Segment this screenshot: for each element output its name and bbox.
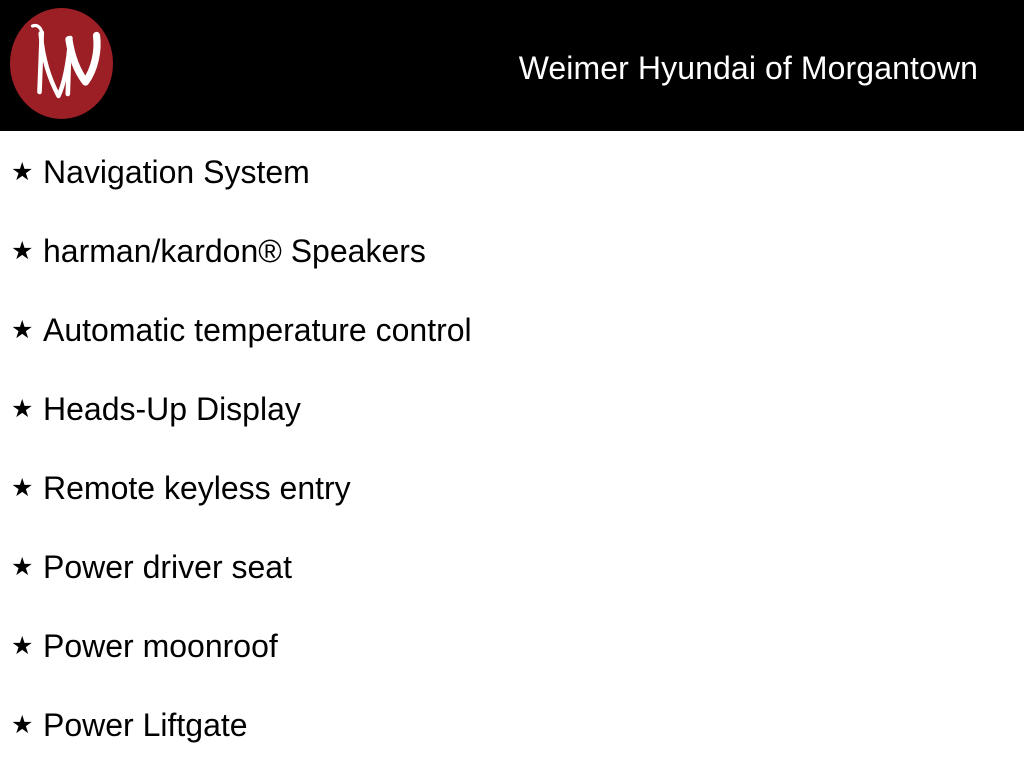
- list-item: ★ Automatic temperature control: [0, 309, 1024, 351]
- dealer-logo: [10, 8, 113, 119]
- list-item: ★ Heads-Up Display: [0, 388, 1024, 430]
- list-item: ★ Navigation System: [0, 151, 1024, 193]
- feature-label: Power moonroof: [43, 625, 278, 667]
- star-bullet-icon: ★: [11, 625, 33, 667]
- feature-label: Navigation System: [43, 151, 310, 193]
- page-title: Weimer Hyundai of Morgantown: [519, 49, 978, 87]
- list-item: ★ Power moonroof: [0, 625, 1024, 667]
- star-bullet-icon: ★: [11, 388, 33, 430]
- star-bullet-icon: ★: [11, 151, 33, 193]
- star-bullet-icon: ★: [11, 704, 33, 746]
- feature-label: Power driver seat: [43, 546, 292, 588]
- feature-list: ★ Navigation System ★ harman/kardon® Spe…: [0, 131, 1024, 768]
- list-item: ★ harman/kardon® Speakers: [0, 230, 1024, 272]
- feature-label: Power Liftgate: [43, 704, 248, 746]
- feature-label: Remote keyless entry: [43, 467, 351, 509]
- feature-slide: Weimer Hyundai of Morgantown ★ Navigatio…: [0, 0, 1024, 768]
- star-bullet-icon: ★: [11, 309, 33, 351]
- star-bullet-icon: ★: [11, 230, 33, 272]
- slide-header: Weimer Hyundai of Morgantown: [0, 0, 1024, 131]
- list-item: ★ Power Liftgate: [0, 704, 1024, 746]
- list-item: ★ Remote keyless entry: [0, 467, 1024, 509]
- feature-label: Automatic temperature control: [43, 309, 472, 351]
- star-bullet-icon: ★: [11, 467, 33, 509]
- list-item: ★ Power driver seat: [0, 546, 1024, 588]
- star-bullet-icon: ★: [11, 546, 33, 588]
- feature-label: harman/kardon® Speakers: [43, 230, 426, 272]
- feature-label: Heads-Up Display: [43, 388, 301, 430]
